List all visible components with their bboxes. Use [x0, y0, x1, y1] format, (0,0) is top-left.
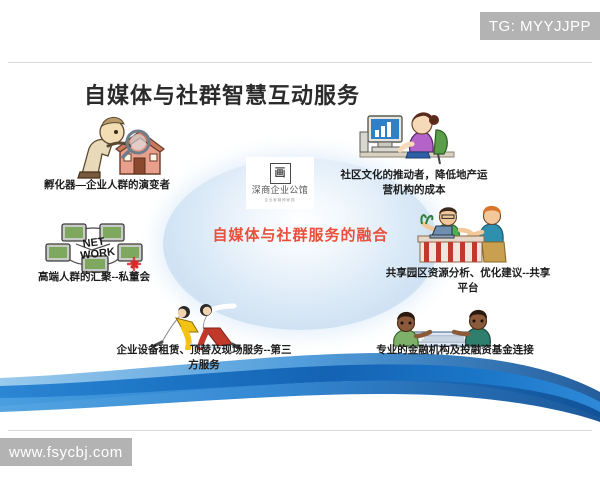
watermark-top-right: TG: MYYJJPP [480, 12, 600, 40]
caption-shared-park: 共享园区资源分析、优化建议--共享平台 [384, 266, 552, 296]
caption-finance-connect: 专业的金融机构及投融资基金连接 [366, 343, 544, 358]
presentation-slide: 自媒体与社群智慧互动服务 画 深商企业公馆 企业家精神家园 自媒体与社群服务的融… [0, 0, 600, 480]
reception-desk-people-icon [414, 200, 518, 264]
logo-subtitle: 企业家精神家园 [265, 197, 296, 203]
caption-incubator: 孵化器—企业人群的演变者 [44, 178, 224, 193]
caption-equipment-leasing: 企业设备租赁、顶替及现场服务--第三方服务 [116, 343, 292, 373]
decorative-wave [0, 352, 600, 430]
page-title: 自媒体与社群智慧互动服务 [84, 78, 360, 110]
person-inspecting-house-icon [68, 112, 166, 180]
watermark-bottom-left: www.fsycbj.com [0, 438, 132, 466]
logo-name: 深商企业公馆 [252, 186, 308, 195]
divider-top [8, 62, 592, 63]
center-label: 自媒体与社群服务的融合 [163, 224, 438, 245]
center-logo: 画 深商企业公馆 企业家精神家园 [246, 157, 314, 209]
logo-mark-icon: 画 [270, 163, 291, 184]
divider-bottom [8, 430, 592, 431]
caption-community-culture: 社区文化的推动者，降低地产运营机构的成本 [338, 168, 490, 198]
network-computers-icon: NET WORK [40, 214, 148, 276]
caption-high-end-network: 高端人群的汇聚--私董会 [30, 270, 158, 285]
woman-at-computer-icon [358, 104, 456, 166]
